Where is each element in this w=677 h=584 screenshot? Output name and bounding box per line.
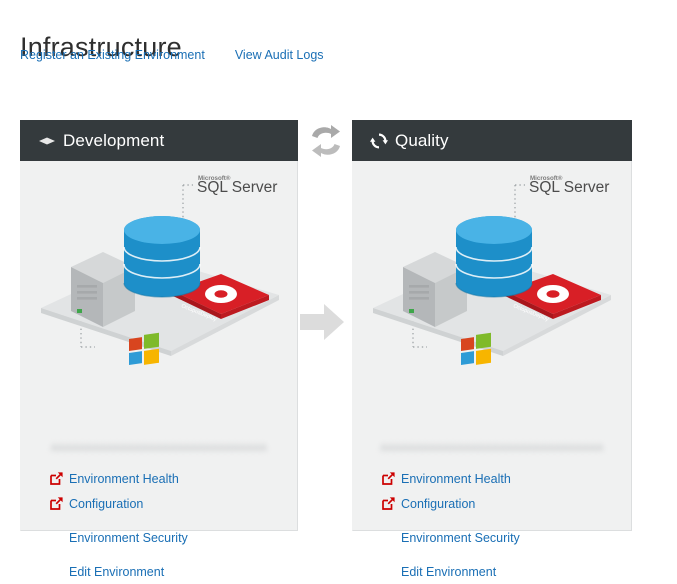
- external-link-icon: [50, 472, 63, 485]
- list-item[interactable]: Environment Health: [50, 466, 297, 491]
- external-link-icon: [382, 497, 395, 510]
- link-icon-spacer: [50, 531, 63, 544]
- sql-server-illustration: Microsoft® SQL Server: [21, 161, 297, 396]
- link-icon-spacer: [382, 565, 395, 578]
- environment-health-link[interactable]: Environment Health: [69, 472, 179, 486]
- configuration-link[interactable]: Configuration: [69, 497, 143, 511]
- list-item[interactable]: Edit Environment: [50, 559, 297, 584]
- svg-text:SQL Server: SQL Server: [529, 179, 609, 196]
- link-icon-spacer: [382, 531, 395, 544]
- environment-health-link[interactable]: Environment Health: [401, 472, 511, 486]
- svg-text:SQL Server: SQL Server: [197, 179, 277, 196]
- card-body-quality: Microsoft® SQL Server: [352, 161, 632, 531]
- card-title-quality: Quality: [395, 131, 449, 151]
- environment-security-link[interactable]: Environment Security: [401, 531, 520, 545]
- sync-arrows-icon: [307, 122, 345, 160]
- register-existing-environment-link[interactable]: Register an Existing Environment: [20, 48, 205, 62]
- external-link-icon: [50, 497, 63, 510]
- card-title-development: Development: [63, 131, 164, 151]
- edit-environment-link[interactable]: Edit Environment: [69, 565, 164, 579]
- card-header-quality: Quality: [352, 120, 632, 161]
- right-arrow-icon: [298, 300, 348, 344]
- external-link-icon: [382, 472, 395, 485]
- environment-security-link[interactable]: Environment Security: [69, 531, 188, 545]
- server-hostname-quality: AAAAAAAAAAAAAAAAAAAAAAAAAAAAAAAA: [353, 443, 631, 454]
- list-item[interactable]: Environment Security: [50, 525, 297, 550]
- view-audit-logs-link[interactable]: View Audit Logs: [235, 48, 324, 62]
- environment-card-development: Development Microsoft® SQL Server: [20, 120, 298, 531]
- environment-card-quality: Quality Microsoft® SQL Server: [352, 120, 632, 531]
- list-item[interactable]: Environment Security: [382, 525, 631, 550]
- card-body-development: Microsoft® SQL Server: [20, 161, 298, 531]
- page-action-links: Register an Existing EnvironmentView Aud…: [20, 46, 324, 64]
- card-header-development: Development: [20, 120, 298, 161]
- list-item[interactable]: Configuration: [382, 491, 631, 516]
- list-item[interactable]: Configuration: [50, 491, 297, 516]
- card-links-quality: Environment Health Configuration Environ…: [353, 466, 631, 584]
- list-item[interactable]: Environment Health: [382, 466, 631, 491]
- diamond-icon: [38, 132, 56, 150]
- card-links-development: Environment Health Configuration Environ…: [21, 466, 297, 584]
- refresh-cycle-icon: [370, 132, 388, 150]
- server-hostname-development: AAAAAAAAAAAAAAAAAAAAAAAAAAAAAAA: [21, 443, 297, 454]
- sql-server-illustration: Microsoft® SQL Server: [353, 161, 631, 396]
- link-icon-spacer: [50, 565, 63, 578]
- list-item[interactable]: Edit Environment: [382, 559, 631, 584]
- edit-environment-link[interactable]: Edit Environment: [401, 565, 496, 579]
- configuration-link[interactable]: Configuration: [401, 497, 475, 511]
